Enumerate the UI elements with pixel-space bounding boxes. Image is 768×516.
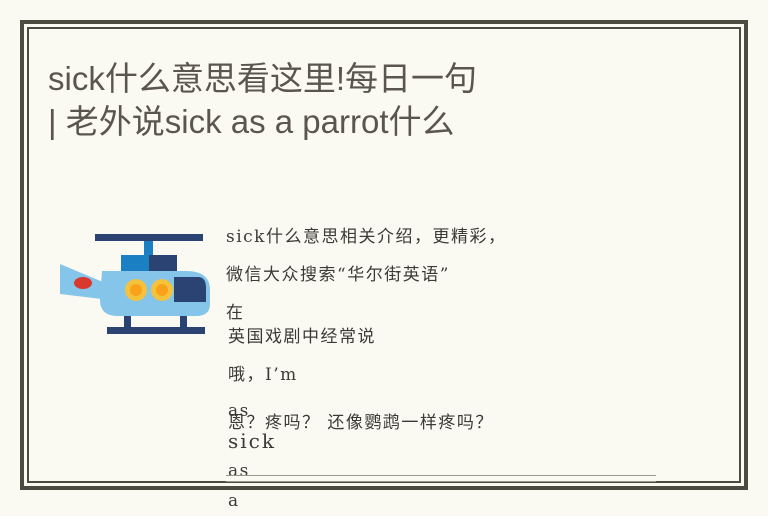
overlay-line-1: 英国戏剧中经常说 bbox=[228, 318, 658, 356]
page-title-line-1: sick什么意思看这里!每日一句 bbox=[48, 60, 477, 97]
article-body-overlay-top: 英国戏剧中经常说 哦，I’m bbox=[228, 318, 658, 394]
idiom-word-4: a bbox=[228, 486, 276, 516]
overlay-line-2: 哦，I’m bbox=[228, 356, 658, 394]
article-page: sick什么意思看这里!每日一句| 老外说sick as a parrot什么 … bbox=[0, 0, 768, 510]
divider-rule-lower bbox=[226, 481, 656, 482]
page-title-line-2: | 老外说sick as a parrot什么 bbox=[48, 103, 455, 140]
body-line-1: sick什么意思相关介绍，更精彩， bbox=[226, 218, 656, 256]
article-body: sick什么意思相关介绍，更精彩， 微信大众搜索“华尔街英语” 在 bbox=[226, 218, 656, 332]
helicopter-icon bbox=[58, 228, 216, 334]
article-body-overlay-bottom: 恩？疼吗？ 还像鹦鹉一样疼吗？ bbox=[228, 404, 658, 442]
body-line-2: 微信大众搜索“华尔街英语” bbox=[226, 256, 656, 294]
divider-rule-upper bbox=[226, 475, 656, 476]
page-title: sick什么意思看这里!每日一句| 老外说sick as a parrot什么 bbox=[48, 57, 648, 143]
overlay-line-3: 恩？疼吗？ 还像鹦鹉一样疼吗？ bbox=[228, 404, 658, 442]
